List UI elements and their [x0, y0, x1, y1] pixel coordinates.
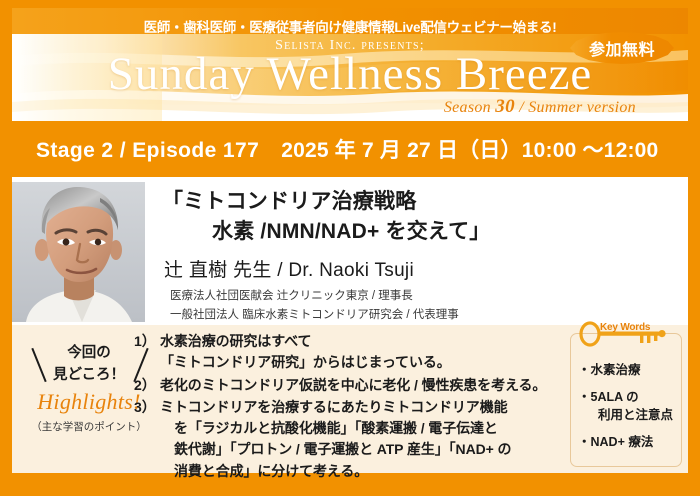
list-item: ・5ALA の 利用と注意点 [578, 388, 686, 424]
list-item-number: 2） [134, 375, 160, 396]
free-participation-badge: 参加無料 [570, 32, 674, 64]
list-item-text: 水素治療の研究はすべて 「ミトコンドリア研究」からはじまっている。 [160, 331, 451, 374]
webinar-poster: 医師・歯科医師・医療従事者向け健康情報Live配信ウェビナー始まる! Selis… [0, 0, 700, 496]
list-item-number: 1） [134, 331, 160, 374]
stage-bar: Stage 2 / Episode 177 2025 年 7 月 27 日（日）… [0, 121, 700, 177]
season-prefix: Season [444, 99, 491, 116]
highlights-list: 1） 水素治療の研究はすべて 「ミトコンドリア研究」からはじまっている。 2） … [134, 331, 554, 483]
avatar [12, 182, 145, 322]
header-season: Season 30 / Summer version [444, 96, 636, 118]
speaker-portrait [12, 182, 145, 322]
datetime-label: 2025 年 7 月 27 日（日）10:00 〜12:00 [281, 139, 658, 162]
keyword-text: ・5ALA の [578, 390, 639, 404]
list-item: ・NAD+ 療法 [578, 433, 686, 451]
list-item: 1） 水素治療の研究はすべて 「ミトコンドリア研究」からはじまっている。 [134, 331, 554, 374]
list-item-line: ミトコンドリアを治療するにあたりミトコンドリア機能 [160, 399, 508, 415]
list-item-line: 「ミトコンドリア研究」からはじまっている。 [160, 354, 451, 370]
speaker-name: 辻 直樹 先生 / Dr. Naoki Tsuji [164, 255, 414, 282]
list-item-line: 鉄代謝」「プロトン / 電子運搬と ATP 産生」「NAD+ の [160, 439, 511, 460]
list-item: ・水素治療 [578, 361, 686, 379]
talk-title-line1: 「ミトコンドリア治療戦略 [162, 190, 416, 213]
keyword-text-cont: 利用と注意点 [578, 406, 686, 424]
highlights-section: 今回の 見どころ！ Highlights! （主な学習のポイント） 1） 水素治… [12, 325, 688, 473]
list-item: 3） ミトコンドリアを治療するにあたりミトコンドリア機能 を「ラジカルと抗酸化機… [134, 397, 554, 482]
affiliation-line-1: 医療法人社団医献会 辻クリニック東京 / 理事長 [170, 287, 459, 306]
affiliation-line-2: 一般社団法人 臨床水素ミトコンドリア研究会 / 代表理事 [170, 306, 459, 325]
season-number: 30 [495, 96, 515, 117]
speaker-affiliation: 医療法人社団医献会 辻クリニック東京 / 理事長 一般社団法人 臨床水素ミトコン… [170, 287, 459, 324]
talk-title-line2: 水素 /NMN/NAD+ を交えて」 [162, 217, 682, 247]
keywords-list: ・水素治療 ・5ALA の 利用と注意点 ・NAD+ 療法 [578, 361, 686, 461]
list-item-line: 老化のミトコンドリア仮説を中心に老化 / 慢性疾患を考える。 [160, 377, 546, 393]
list-item-line: 消費と合成」に分けて考える。 [160, 461, 511, 482]
list-item: 2） 老化のミトコンドリア仮説を中心に老化 / 慢性疾患を考える。 [134, 375, 554, 396]
talk-title: 「ミトコンドリア治療戦略 水素 /NMN/NAD+ を交えて」 [162, 187, 682, 247]
keywords-label: Key Words [600, 322, 650, 333]
keywords-header: Key Words [578, 321, 678, 347]
keyword-text: ・NAD+ 療法 [578, 435, 653, 449]
season-suffix: / Summer version [519, 99, 636, 116]
badge-label: 参加無料 [570, 32, 674, 64]
list-item-text: 老化のミトコンドリア仮説を中心に老化 / 慢性疾患を考える。 [160, 375, 546, 396]
list-item-text: ミトコンドリアを治療するにあたりミトコンドリア機能 を「ラジカルと抗酸化機能」「… [160, 397, 511, 482]
list-item-line: を「ラジカルと抗酸化機能」「酸素運搬 / 電子伝達と [160, 418, 511, 439]
stage-bar-text: Stage 2 / Episode 177 2025 年 7 月 27 日（日）… [36, 134, 658, 164]
keyword-text: ・水素治療 [578, 363, 641, 377]
episode-label: Stage 2 / Episode 177 [36, 139, 259, 162]
list-item-line: 水素治療の研究はすべて [160, 333, 311, 349]
list-item-number: 3） [134, 397, 160, 482]
header-banner: 医師・歯科医師・医療従事者向け健康情報Live配信ウェビナー始まる! Selis… [12, 8, 688, 121]
